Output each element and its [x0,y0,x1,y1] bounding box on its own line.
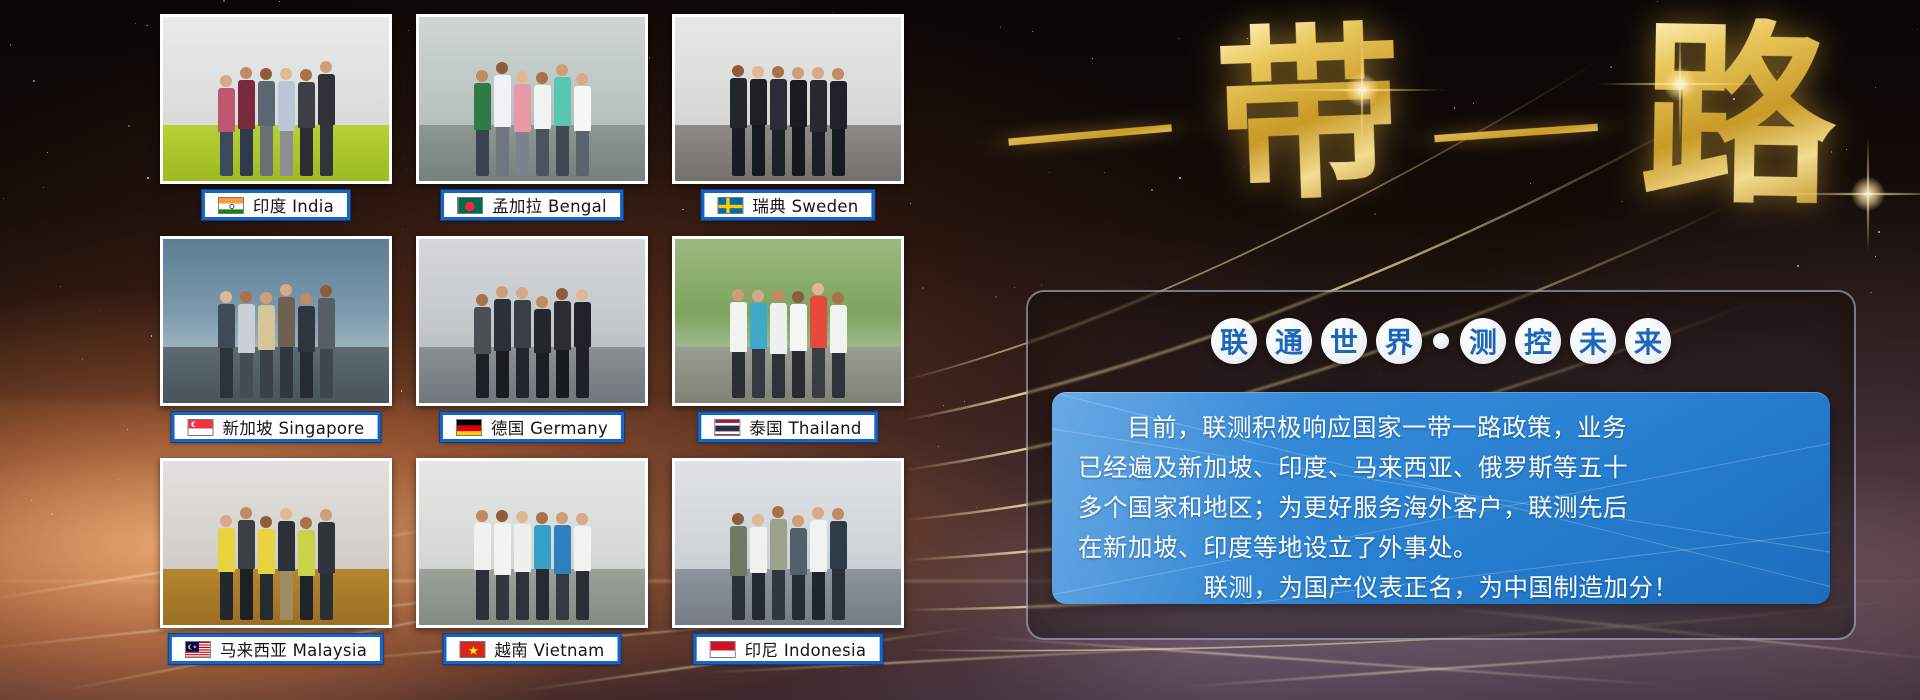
country-caption-label: 印度 India [253,193,334,217]
person [830,68,847,176]
country-card[interactable]: ★越南 Vietnam [416,458,648,676]
person [810,283,827,398]
flag-germany-icon [456,419,482,436]
person [218,75,235,176]
photo-people [172,507,380,620]
photo-people [428,286,636,398]
person [278,508,295,620]
flag-malaysia-icon: ★ [185,641,211,658]
headline-char-1: 一 [1001,99,1179,178]
headline-char-3: 一 [1428,98,1605,174]
person [494,62,511,176]
slogan-char: 世 [1321,318,1367,364]
description-box: 目前，联测积极响应国家一带一路政策，业务已经遍及新加坡、印度、马来西亚、俄罗斯等… [1052,392,1830,604]
slogan-char: 控 [1515,318,1561,364]
country-photo[interactable] [160,458,392,628]
person [238,67,255,176]
slogan-char: 界 [1376,318,1422,364]
country-photo[interactable] [672,458,904,628]
photo-people [684,283,892,398]
person [534,512,551,620]
svg-text:★: ★ [193,644,198,650]
slogan-char: 测 [1460,318,1506,364]
person [574,73,591,176]
country-card[interactable]: 泰国 Thailand [672,236,904,454]
country-caption-label: 新加坡 Singapore [223,415,365,439]
flag-singapore-icon [188,419,214,436]
country-photo[interactable] [160,236,392,406]
person [730,289,747,398]
person [494,286,511,398]
person [298,517,315,620]
person [770,506,787,620]
person [494,510,511,620]
country-caption-label: 孟加拉 Bengal [492,193,607,217]
person [790,291,807,398]
person [278,284,295,398]
person [298,293,315,398]
person [514,511,531,620]
country-caption[interactable]: 泰国 Thailand [698,412,877,442]
person [810,67,827,176]
description-paragraph: 目前，联测积极响应国家一带一路政策，业务已经遍及新加坡、印度、马来西亚、俄罗斯等… [1078,408,1804,604]
description-line: 多个国家和地区；为更好服务海外客户，联测先后 [1078,488,1804,528]
country-photo-grid: 印度 India孟加拉 Bengal瑞典 Sweden新加坡 Singapore… [160,14,930,686]
country-photo[interactable] [416,14,648,184]
flag-bangladesh-icon [457,197,483,214]
country-caption-label: 泰国 Thailand [749,415,861,439]
slogan-char: 联 [1211,318,1257,364]
description-line: 在新加坡、印度等地设立了外事处。 [1078,528,1804,568]
photo-people [428,62,636,176]
country-photo[interactable] [416,458,648,628]
country-card[interactable]: 孟加拉 Bengal [416,14,648,232]
photo-people [428,510,636,620]
country-card[interactable]: ★马来西亚 Malaysia [160,458,392,676]
person [318,509,335,620]
person [474,70,491,176]
svg-text:★: ★ [468,643,479,657]
country-caption[interactable]: 印度 India [202,190,350,220]
slogan-char: 未 [1570,318,1616,364]
person [790,515,807,620]
slogan-char: 通 [1266,318,1312,364]
photo-people [684,65,892,176]
person [474,510,491,620]
banner-stage: 印度 India孟加拉 Bengal瑞典 Sweden新加坡 Singapore… [0,0,1920,700]
person [258,68,275,176]
country-caption-label: 瑞典 Sweden [752,193,858,217]
person [770,290,787,398]
flag-sweden-icon [717,197,743,214]
person [554,288,571,398]
country-card[interactable]: 瑞典 Sweden [672,14,904,232]
person [750,514,767,620]
country-caption[interactable]: ★马来西亚 Malaysia [169,634,383,664]
description-line: 目前，联测积极响应国家一带一路政策，业务 [1078,408,1804,448]
person [514,71,531,176]
headline-belt-and-road: 一 带 一 路 [1020,8,1900,220]
country-photo[interactable] [672,236,904,406]
person [318,285,335,398]
country-caption[interactable]: 德国 Germany [440,412,624,442]
photo-people [172,284,380,398]
country-caption-label: 越南 Vietnam [494,637,604,661]
person [218,291,235,398]
country-card[interactable]: 印度 India [160,14,392,232]
person [534,296,551,398]
person [554,64,571,176]
photo-people [684,506,892,620]
person [318,61,335,176]
country-photo[interactable] [416,236,648,406]
country-caption-label: 德国 Germany [491,415,608,439]
person [790,67,807,176]
person [554,512,571,620]
info-panel: 联通世界测控未来 目前，联测积极响应国家一带一路政策，业务已经遍及新加坡、印度、… [1026,290,1856,640]
person [830,292,847,398]
flag-vietnam-icon: ★ [459,641,485,658]
country-caption[interactable]: 孟加拉 Bengal [441,190,623,220]
person [218,515,235,620]
person [810,507,827,620]
country-photo[interactable] [672,14,904,184]
person [258,516,275,620]
flag-indonesia-icon [710,641,736,658]
country-caption[interactable]: 印尼 Indonesia [694,634,883,664]
person [574,513,591,620]
country-caption[interactable]: 瑞典 Sweden [701,190,874,220]
person [238,291,255,398]
description-line: 联测，为国产仪表正名，为中国制造加分！ [1078,568,1804,604]
person [238,507,255,620]
flag-thailand-icon [714,419,740,436]
person [534,72,551,176]
country-caption[interactable]: 新加坡 Singapore [172,412,381,442]
description-line: 已经遍及新加坡、印度、马来西亚、俄罗斯等五十 [1078,448,1804,488]
photo-people [172,61,380,176]
country-card[interactable]: 印尼 Indonesia [672,458,904,676]
country-card[interactable]: 德国 Germany [416,236,648,454]
slogan-char: 来 [1625,318,1671,364]
person [730,513,747,620]
person [278,68,295,176]
country-caption[interactable]: ★越南 Vietnam [443,634,620,664]
country-card[interactable]: 新加坡 Singapore [160,236,392,454]
person [258,292,275,398]
person [514,287,531,398]
person [730,65,747,176]
slogan-separator-dot [1433,333,1449,349]
slogan-row: 联通世界测控未来 [1028,318,1854,364]
country-photo[interactable] [160,14,392,184]
person [750,290,767,398]
person [770,66,787,176]
headline-char-4: 路 [1638,16,1837,215]
person [750,66,767,176]
flag-india-icon [218,197,244,214]
person [574,289,591,398]
headline-char-2: 带 [1213,19,1405,211]
person [830,508,847,620]
country-caption-label: 马来西亚 Malaysia [220,637,367,661]
person [474,294,491,398]
person [298,69,315,176]
country-caption-label: 印尼 Indonesia [745,637,867,661]
